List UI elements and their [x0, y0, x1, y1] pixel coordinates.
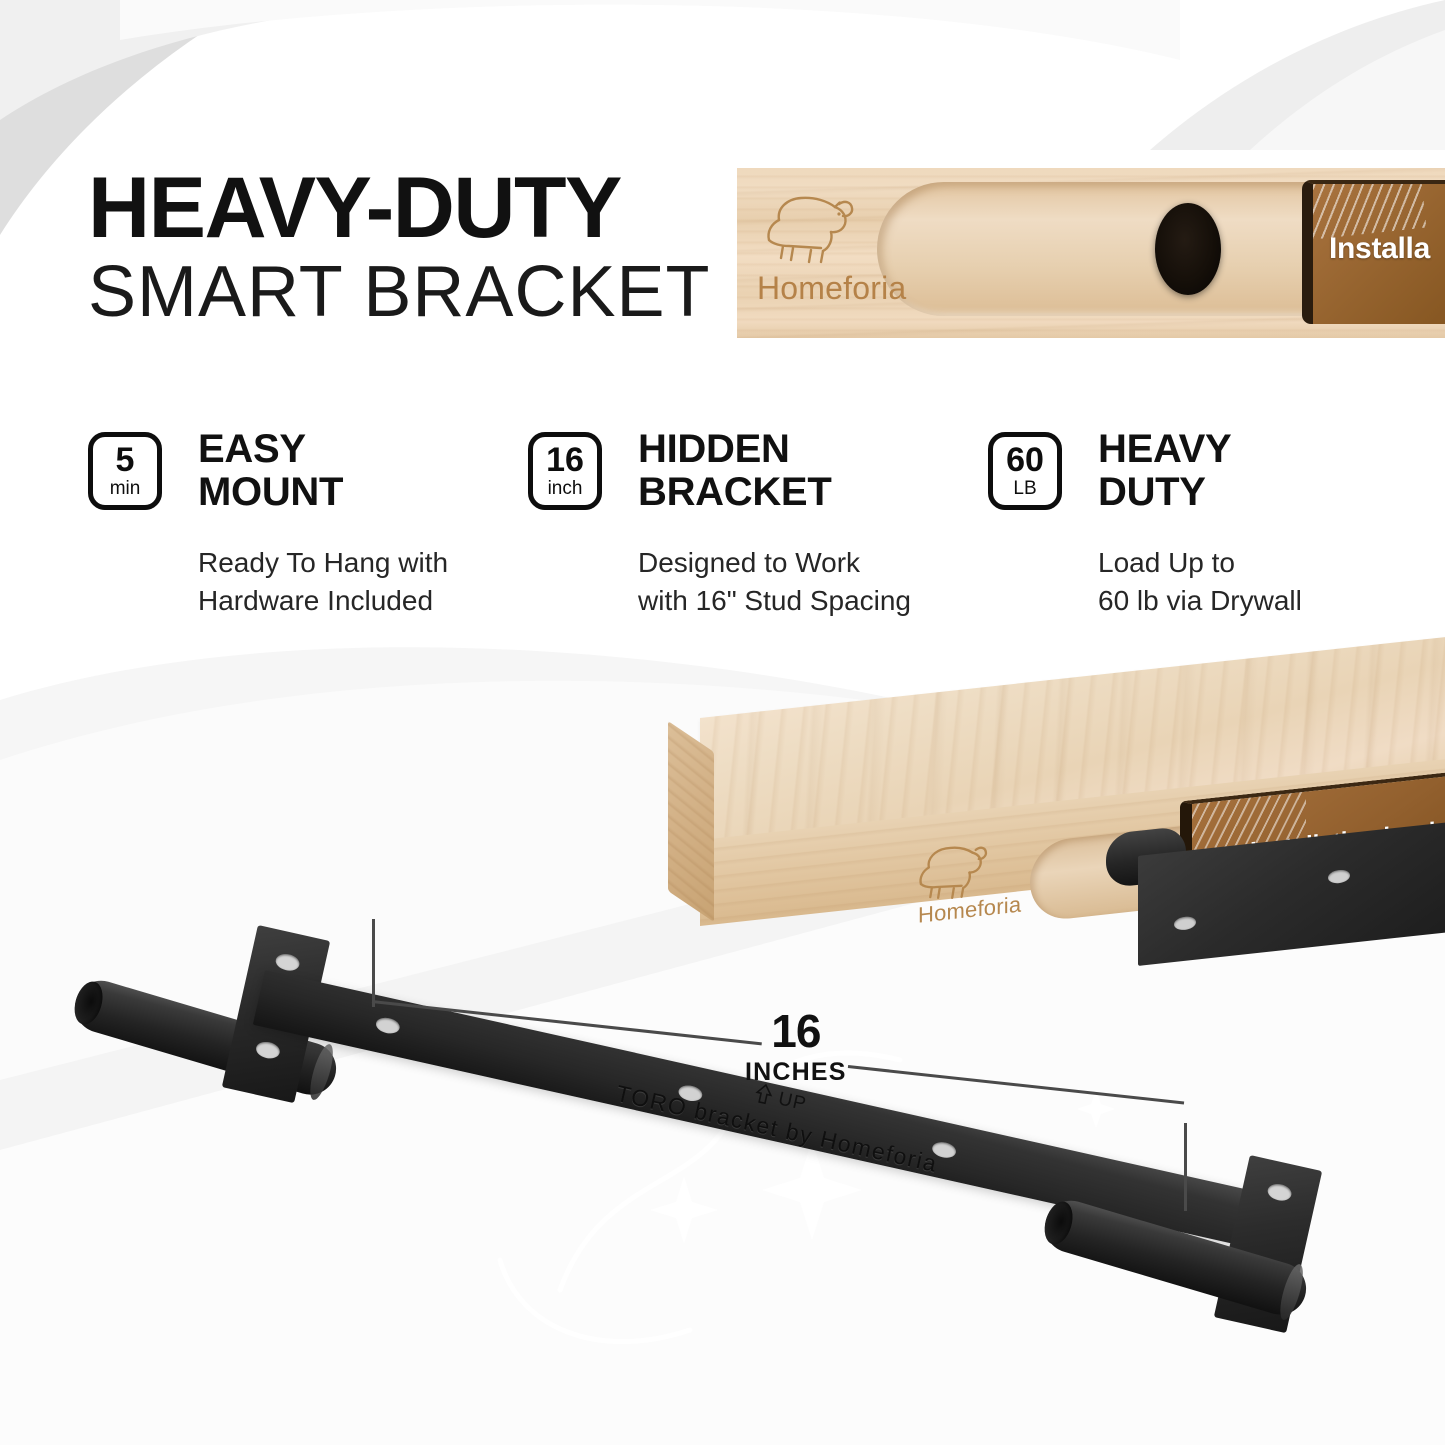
screw-hole — [1328, 869, 1350, 884]
badge-5-min: 5 min — [88, 432, 162, 510]
swoosh-dome-top — [120, 0, 1180, 60]
swoosh-top-right-b — [1250, 30, 1445, 150]
rod-collar — [1276, 1262, 1308, 1322]
dimension-value: 16 — [745, 1008, 847, 1054]
badge-value: 5 — [116, 443, 135, 477]
drill-hole — [1155, 203, 1221, 295]
badge-60-lb: 60 LB — [988, 432, 1062, 510]
feature-title: HIDDEN BRACKET — [638, 428, 831, 514]
screw-hole — [1174, 916, 1196, 931]
dimension-unit: INCHES — [745, 1060, 847, 1085]
shelf-end-grain — [668, 721, 714, 922]
hardware-box-label: Installa — [1329, 232, 1430, 266]
rod-open-end — [1040, 1198, 1077, 1248]
feature-title: EASY MOUNT — [198, 428, 343, 514]
screw-hole — [1266, 1182, 1293, 1203]
swoosh-top-right-a — [1150, 0, 1445, 150]
brand-name: Homeforia — [757, 270, 906, 307]
feature-title: HEAVY DUTY — [1098, 428, 1231, 514]
headline-line-2: SMART BRACKET — [88, 257, 710, 328]
rod-collar — [306, 1042, 338, 1102]
dimension-tick-right — [1184, 1123, 1187, 1211]
badge-unit: inch — [548, 479, 583, 500]
page-title: HEAVY-DUTY SMART BRACKET — [88, 166, 710, 328]
badge-value: 16 — [546, 443, 584, 477]
badge-unit: min — [110, 479, 141, 500]
feature-description: Designed to Work with 16" Stud Spacing — [638, 544, 911, 619]
hero-shelf-photo: Installa Homeforia — [737, 168, 1445, 338]
swoosh-top-left-soft — [0, 0, 520, 120]
brand-logo-engraving: Homeforia — [755, 190, 945, 310]
bracket-product-photo: TORO bracket by Homeforia UP — [40, 940, 1420, 1410]
feature-description: Ready To Hang with Hardware Included — [198, 544, 448, 619]
bison-icon — [755, 190, 865, 268]
screw-hole — [274, 952, 301, 973]
screw-hole — [374, 1016, 401, 1036]
rod-open-end — [70, 978, 107, 1028]
up-label: UP — [776, 1088, 808, 1115]
screw-hole — [254, 1040, 281, 1061]
headline-line-1: HEAVY-DUTY — [88, 166, 710, 251]
product-infographic: HEAVY-DUTY SMART BRACKET Installa — [0, 0, 1445, 1445]
feature-description: Load Up to 60 lb via Drywall — [1098, 544, 1302, 619]
brand-logo-engraving: Homeforia — [910, 830, 1050, 933]
dimension-tick-left — [372, 919, 375, 1007]
badge-value: 60 — [1006, 443, 1044, 477]
dimension-label: 16 INCHES — [745, 1008, 847, 1085]
hardware-box: Installa — [1302, 180, 1445, 324]
end-grain-texture — [668, 721, 714, 922]
badge-unit: LB — [1013, 479, 1036, 500]
badge-16-inch: 16 inch — [528, 432, 602, 510]
